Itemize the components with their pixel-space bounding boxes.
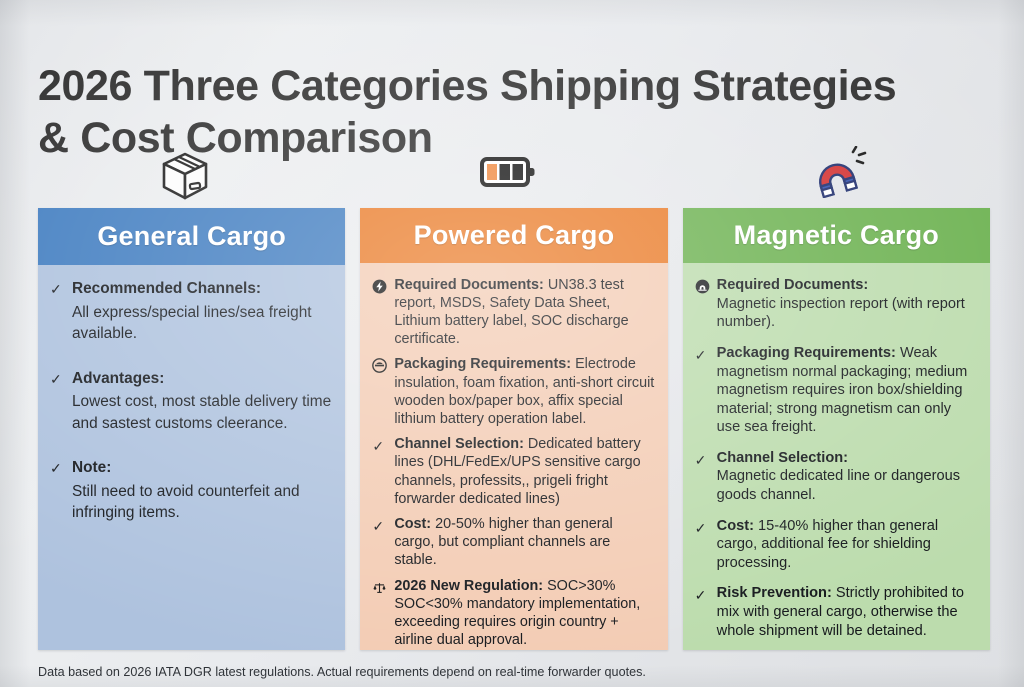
check-icon: ✓	[695, 584, 712, 604]
bullet-body: All express/special lines/sea freight av…	[72, 304, 312, 343]
check-icon: ✓	[372, 515, 389, 535]
list-item: ✓ Recommended Channels:All express/speci…	[50, 278, 333, 345]
bullet-label: Packaging Requirements:	[394, 356, 571, 372]
check-icon: ✓	[695, 517, 712, 537]
bullet-label: 2026 New Regulation:	[394, 578, 543, 594]
category-columns: General Cargo ✓ Recommended Channels:All…	[38, 208, 990, 650]
package-circle-icon	[372, 355, 389, 372]
bullet-body: Still need to avoid counterfeit and infr…	[72, 483, 300, 522]
lightning-bolt-icon	[372, 276, 389, 293]
column-header-powered: Powered Cargo	[360, 208, 667, 263]
magnet-icon	[808, 146, 868, 203]
bullet-body: Lowest cost, most stable delivery time a…	[72, 393, 331, 432]
list-item: Required Documents:Magnetic inspection r…	[695, 276, 978, 332]
bullet-content: Advantages:Lowest cost, most stable deli…	[72, 368, 333, 435]
list-item: ✓ Cost: 20-50% higher than general cargo…	[372, 515, 655, 570]
bullet-label: Advantages:	[72, 368, 333, 390]
bullet-content: Channel Selection: Dedicated battery lin…	[394, 435, 655, 508]
bullet-content: 2026 New Regulation: SOC>30% SOC<30% man…	[394, 577, 655, 650]
battery-icon	[480, 155, 538, 194]
bullet-label: Risk Prevention:	[717, 585, 832, 601]
column-body-magnetic: Required Documents:Magnetic inspection r…	[683, 263, 990, 650]
column-general-cargo: General Cargo ✓ Recommended Channels:All…	[38, 208, 345, 650]
list-item: 2026 New Regulation: SOC>30% SOC<30% man…	[372, 577, 655, 650]
footnote: Data based on 2026 IATA DGR latest regul…	[38, 665, 646, 679]
list-item: Required Documents: UN38.3 test report, …	[372, 276, 655, 349]
bullet-content: Cost: 15-40% higher than general cargo, …	[717, 517, 978, 573]
bullet-content: Note:Still need to avoid counterfeit and…	[72, 457, 333, 524]
column-magnetic-cargo: Magnetic Cargo Required Documents:Magnet…	[683, 208, 990, 650]
bullet-body: Magnetic inspection report (with report …	[717, 296, 965, 331]
title-line-1: 2026 Three Categories Shipping Strategie…	[38, 60, 978, 112]
list-item: ✓ Risk Prevention: Strictly prohibited t…	[695, 584, 978, 640]
check-icon: ✓	[50, 278, 67, 298]
list-item: ✓ Packaging Requirements: Weak magnetism…	[695, 344, 978, 437]
bullet-label: Required Documents:	[717, 277, 869, 293]
bullet-content: Required Documents: UN38.3 test report, …	[394, 276, 655, 349]
bullet-label: Recommended Channels:	[72, 278, 333, 300]
bullet-content: Recommended Channels:All express/special…	[72, 278, 333, 345]
column-header-general: General Cargo	[38, 208, 345, 265]
list-item: ✓ Channel Selection: Dedicated battery l…	[372, 435, 655, 508]
list-item: ✓ Advantages:Lowest cost, most stable de…	[50, 368, 333, 435]
check-icon: ✓	[695, 449, 712, 469]
magnet-circle-icon	[695, 276, 712, 293]
bullet-label: Cost:	[394, 516, 431, 532]
check-icon: ✓	[50, 368, 67, 388]
bullet-label: Required Documents:	[394, 277, 544, 293]
list-item: ✓ Channel Selection:Magnetic dedicated l…	[695, 449, 978, 505]
bullet-content: Cost: 20-50% higher than general cargo, …	[394, 515, 655, 570]
column-body-powered: Required Documents: UN38.3 test report, …	[360, 263, 667, 650]
bullet-content: Risk Prevention: Strictly prohibited to …	[717, 584, 978, 640]
list-item: Packaging Requirements: Electrode insula…	[372, 355, 655, 428]
check-icon: ✓	[372, 435, 389, 455]
bullet-label: Note:	[72, 457, 333, 479]
column-powered-cargo: Powered Cargo Required Documents: UN38.3…	[360, 208, 667, 650]
bullet-content: Required Documents:Magnetic inspection r…	[717, 276, 978, 332]
bullet-content: Packaging Requirements: Weak magnetism n…	[717, 344, 978, 437]
column-body-general: ✓ Recommended Channels:All express/speci…	[38, 265, 345, 650]
bullet-label: Cost:	[717, 518, 754, 534]
bullet-label: Packaging Requirements:	[717, 345, 896, 361]
check-icon: ✓	[695, 344, 712, 364]
list-item: ✓ Cost: 15-40% higher than general cargo…	[695, 517, 978, 573]
bullet-label: Channel Selection:	[394, 436, 524, 452]
list-item: ✓ Note:Still need to avoid counterfeit a…	[50, 457, 333, 524]
bullet-content: Packaging Requirements: Electrode insula…	[394, 355, 655, 428]
package-box-icon	[157, 145, 213, 210]
column-header-magnetic: Magnetic Cargo	[683, 208, 990, 263]
bullet-content: Channel Selection:Magnetic dedicated lin…	[717, 449, 978, 505]
scales-icon	[372, 577, 389, 594]
poster-canvas: 2026 Three Categories Shipping Strategie…	[0, 0, 1024, 687]
bullet-body: Magnetic dedicated line or dangerous goo…	[717, 468, 960, 503]
bullet-label: Channel Selection:	[717, 450, 848, 466]
check-icon: ✓	[50, 457, 67, 477]
